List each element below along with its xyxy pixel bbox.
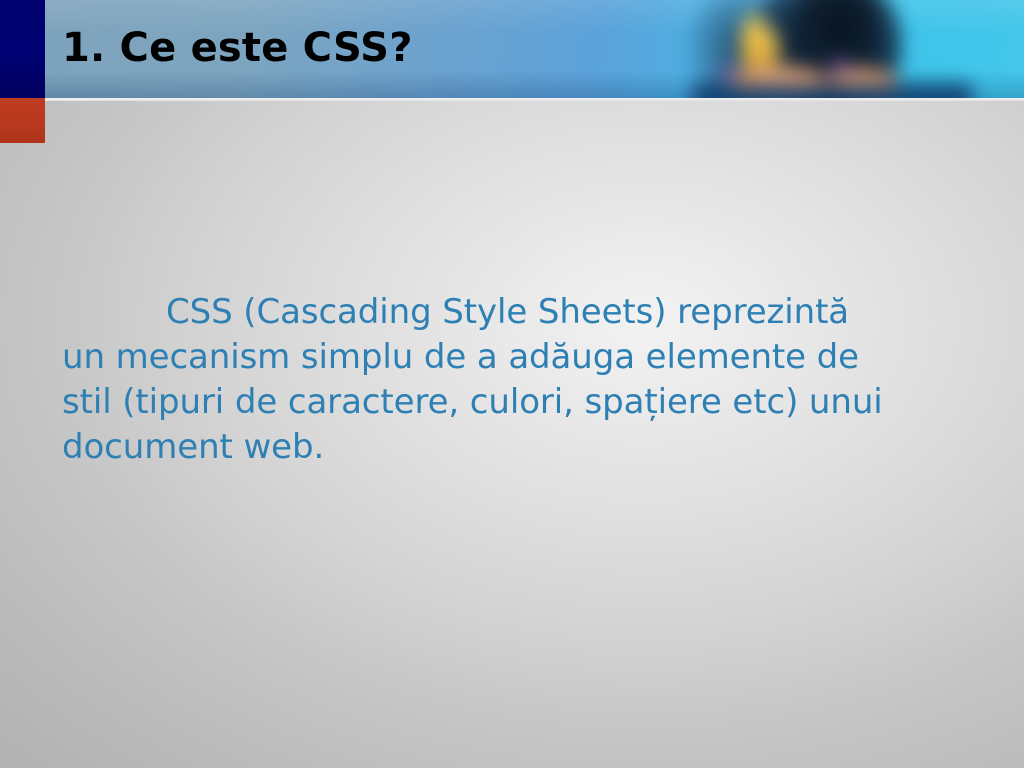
slide-title: 1. Ce este CSS? (62, 20, 762, 76)
photo-dark-base-band (692, 80, 972, 98)
presentation-slide: 1. Ce este CSS? CSS (Cascading Style She… (0, 0, 1024, 768)
red-accent-bar (0, 98, 45, 143)
slide-body-text: CSS (Cascading Style Sheets) reprezintă … (62, 290, 892, 470)
slide-body-paragraph: CSS (Cascading Style Sheets) reprezintă … (62, 292, 883, 467)
header-separator-line (0, 98, 1024, 101)
navy-accent-bar (0, 0, 45, 98)
